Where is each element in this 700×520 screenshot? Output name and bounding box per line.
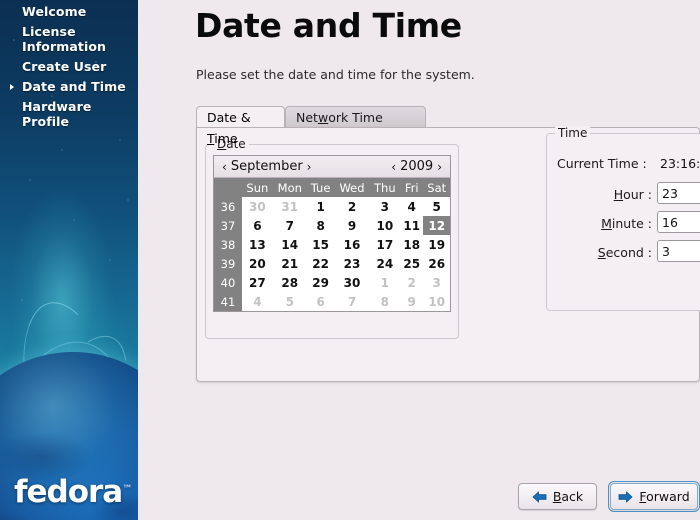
calendar-day-cell[interactable]: 16 — [334, 235, 369, 254]
calendar-day-cell[interactable]: 13 — [242, 235, 273, 254]
calendar-day-cell[interactable]: 29 — [307, 273, 335, 292]
calendar-week-row: 3920212223242526 — [214, 254, 450, 273]
calendar-day-cell[interactable]: 30 — [334, 273, 369, 292]
date-group-box: Date ‹ September › ‹ 2009 › — [205, 144, 459, 339]
calendar-week-row: 376789101112 — [214, 216, 450, 235]
tab-date-and-time[interactable]: Date & Time — [196, 106, 285, 127]
calendar-day-cell[interactable]: 28 — [273, 273, 307, 292]
left-arrow-icon — [532, 491, 547, 503]
calendar-day-cell[interactable]: 10 — [370, 216, 400, 235]
second-label: Second : — [567, 245, 652, 260]
sidebar-item-label: Welcome — [22, 4, 86, 19]
calendar-day-cell[interactable]: 3 — [423, 273, 450, 292]
prev-year-arrow-icon[interactable]: ‹ — [390, 160, 397, 174]
back-button[interactable]: Back — [518, 483, 597, 510]
week-number-header — [214, 178, 242, 197]
calendar-day-cell[interactable]: 31 — [273, 197, 307, 216]
calendar-day-cell[interactable]: 27 — [242, 273, 273, 292]
calendar-week-row: 4027282930123 — [214, 273, 450, 292]
calendar-month-label: September — [231, 159, 303, 174]
calendar-year-label: 2009 — [400, 159, 433, 174]
calendar-day-cell[interactable]: 15 — [307, 235, 335, 254]
calendar-day-cell[interactable]: 1 — [307, 197, 335, 216]
sidebar-item-create-user[interactable]: Create User — [0, 58, 138, 75]
minute-stepper[interactable]: ˄ ˅ — [657, 211, 700, 233]
sidebar-item-hardware-profile[interactable]: Hardware Profile — [0, 98, 138, 130]
page-title: Date and Time — [195, 6, 462, 45]
sidebar-item-label: Date and Time — [22, 79, 126, 94]
calendar-day-cell[interactable]: 7 — [273, 216, 307, 235]
calendar-day-selected[interactable]: 12 — [423, 216, 450, 235]
year-nav-group: ‹ 2009 › — [390, 159, 443, 174]
calendar-day-cell[interactable]: 2 — [400, 273, 423, 292]
weekday-header-wed: Wed — [334, 178, 369, 197]
calendar-day-cell[interactable]: 8 — [307, 216, 335, 235]
calendar-day-cell[interactable]: 4 — [400, 197, 423, 216]
sidebar-item-date-and-time[interactable]: Date and Time — [0, 78, 138, 95]
calendar-day-cell[interactable]: 10 — [423, 292, 450, 311]
week-number-cell: 38 — [214, 235, 242, 254]
calendar-day-cell[interactable]: 3 — [370, 197, 400, 216]
tab-bar: Network Time Protocol Date & Time — [196, 106, 700, 128]
calendar-day-cell[interactable]: 5 — [423, 197, 450, 216]
week-number-cell: 40 — [214, 273, 242, 292]
main-content: Date and Time Please set the date and ti… — [138, 0, 700, 520]
calendar-day-cell[interactable]: 6 — [307, 292, 335, 311]
sidebar: Welcome License Information Create User … — [0, 0, 138, 520]
calendar-day-cell[interactable]: 20 — [242, 254, 273, 273]
week-number-cell: 41 — [214, 292, 242, 311]
forward-button[interactable]: Forward — [610, 483, 698, 510]
calendar-header-row: SunMonTueWedThuFriSat — [214, 178, 450, 197]
calendar-nav-bar: ‹ September › ‹ 2009 › — [214, 156, 450, 178]
current-time-value: 23:16:03 — [660, 156, 700, 171]
time-group-label: Time — [555, 126, 590, 140]
sidebar-item-label: Create User — [22, 59, 106, 74]
calendar-day-cell[interactable]: 5 — [273, 292, 307, 311]
calendar-day-cell[interactable]: 18 — [400, 235, 423, 254]
calendar-day-cell[interactable]: 25 — [400, 254, 423, 273]
week-number-cell: 37 — [214, 216, 242, 235]
week-number-cell: 39 — [214, 254, 242, 273]
calendar-day-cell[interactable]: 24 — [370, 254, 400, 273]
next-month-arrow-icon[interactable]: › — [306, 160, 313, 174]
tab-panel-date-time: Date ‹ September › ‹ 2009 › — [196, 127, 700, 382]
fedora-logo: fedora™ — [14, 477, 132, 508]
calendar-widget[interactable]: ‹ September › ‹ 2009 › SunMonTueWedThuFr… — [213, 155, 451, 312]
calendar-day-cell[interactable]: 19 — [423, 235, 450, 254]
calendar-day-cell[interactable]: 4 — [242, 292, 273, 311]
calendar-week-row: 4145678910 — [214, 292, 450, 311]
calendar-day-cell[interactable]: 11 — [400, 216, 423, 235]
next-year-arrow-icon[interactable]: › — [436, 160, 443, 174]
calendar-day-cell[interactable]: 6 — [242, 216, 273, 235]
fedora-wordmark: fedora — [14, 474, 122, 510]
calendar-day-cell[interactable]: 7 — [334, 292, 369, 311]
calendar-day-cell[interactable]: 17 — [370, 235, 400, 254]
calendar-day-cell[interactable]: 22 — [307, 254, 335, 273]
calendar-day-cell[interactable]: 26 — [423, 254, 450, 273]
calendar-week-row: 3813141516171819 — [214, 235, 450, 254]
calendar-day-cell[interactable]: 2 — [334, 197, 369, 216]
sidebar-item-label: License Information — [22, 24, 106, 54]
weekday-header-thu: Thu — [370, 178, 400, 197]
calendar-day-cell[interactable]: 9 — [334, 216, 369, 235]
prev-month-arrow-icon[interactable]: ‹ — [221, 160, 228, 174]
calendar-day-cell[interactable]: 1 — [370, 273, 400, 292]
calendar-body: 3630311234537678910111238131415161718193… — [214, 197, 450, 311]
tab-network-time-protocol[interactable]: Network Time Protocol — [285, 106, 426, 127]
current-time-label: Current Time : — [557, 156, 647, 171]
weekday-header-fri: Fri — [400, 178, 423, 197]
forward-button-label: Forward — [639, 489, 689, 504]
sidebar-item-license-information[interactable]: License Information — [0, 23, 138, 55]
calendar-day-cell[interactable]: 9 — [400, 292, 423, 311]
hour-stepper[interactable]: ˄ ˅ — [657, 182, 700, 204]
second-stepper[interactable]: ˄ ˅ — [657, 240, 700, 262]
page-subtitle: Please set the date and time for the sys… — [196, 67, 475, 82]
time-group-box: Time Current Time : 23:16:03 Hour : ˄ ˅ … — [546, 133, 700, 311]
fedora-firstboot-window: Welcome License Information Create User … — [0, 0, 700, 520]
weekday-header-mon: Mon — [273, 178, 307, 197]
sidebar-item-label: Hardware Profile — [22, 99, 91, 129]
sidebar-item-welcome[interactable]: Welcome — [0, 3, 138, 20]
calendar-day-cell[interactable]: 21 — [273, 254, 307, 273]
hour-label: Hour : — [567, 187, 652, 202]
calendar-week-row: 36303112345 — [214, 197, 450, 216]
calendar-grid: SunMonTueWedThuFriSat 363031123453767891… — [214, 178, 450, 311]
right-arrow-icon — [618, 491, 633, 503]
week-number-cell: 36 — [214, 197, 242, 216]
weekday-header-sat: Sat — [423, 178, 450, 197]
calendar-day-cell[interactable]: 8 — [370, 292, 400, 311]
second-input[interactable] — [658, 241, 700, 261]
calendar-day-cell[interactable]: 30 — [242, 197, 273, 216]
minute-input[interactable] — [658, 212, 700, 232]
hour-input[interactable] — [658, 183, 700, 203]
calendar-day-cell[interactable]: 23 — [334, 254, 369, 273]
current-step-triangle-icon — [10, 84, 14, 90]
back-button-label: Back — [553, 489, 583, 504]
sidebar-nav: Welcome License Information Create User … — [0, 0, 138, 133]
month-nav-group: ‹ September › — [221, 159, 312, 174]
minute-label: Minute : — [567, 216, 652, 231]
calendar-day-cell[interactable]: 14 — [273, 235, 307, 254]
trademark-symbol: ™ — [122, 484, 132, 495]
weekday-header-sun: Sun — [242, 178, 273, 197]
weekday-header-tue: Tue — [307, 178, 335, 197]
